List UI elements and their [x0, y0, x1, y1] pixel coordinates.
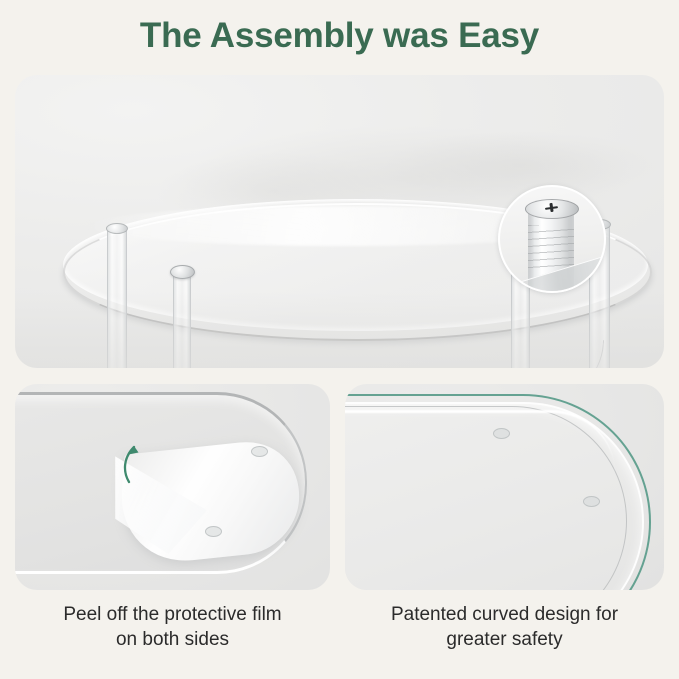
caption-curved-design-line2: greater safety — [345, 627, 664, 652]
caption-peel-film-line1: Peel off the protective film — [15, 602, 330, 627]
floor-shadow — [15, 292, 664, 368]
leg-cap-rear-left — [106, 223, 128, 234]
mounting-hole — [583, 496, 600, 507]
caption-curved-design-line1: Patented curved design for — [345, 602, 664, 627]
caption-peel-film-line2: on both sides — [15, 627, 330, 652]
mounting-hole — [493, 428, 510, 439]
glass-table-assembly-photo — [15, 75, 664, 368]
caption-curved-design: Patented curved design for greater safet… — [345, 602, 664, 652]
phillips-screw-icon — [545, 204, 558, 212]
peel-direction-arrow-icon — [113, 440, 147, 484]
page-title: The Assembly was Easy — [0, 14, 679, 58]
mounting-hole — [205, 526, 222, 537]
curved-edge-photo — [345, 384, 664, 590]
curved-glass-highlight — [345, 410, 615, 473]
peel-film-photo — [15, 384, 330, 590]
caption-peel-film: Peel off the protective film on both sid… — [15, 602, 330, 652]
leg-connector-front-left — [170, 265, 195, 279]
bolt-detail-magnifier — [498, 185, 606, 293]
product-feature-page: The Assembly was Easy — [0, 0, 679, 679]
mounting-hole — [251, 446, 268, 457]
bolt-threads — [528, 225, 574, 271]
